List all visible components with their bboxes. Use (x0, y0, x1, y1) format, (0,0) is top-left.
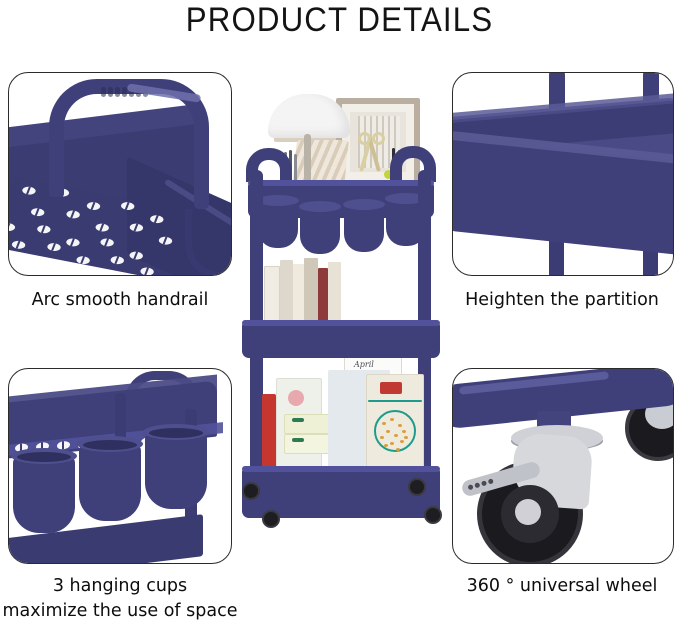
scissors-handle-ring (372, 132, 385, 145)
perforation-hole (128, 251, 144, 261)
feature-panel-hanging-cups (8, 368, 232, 564)
caption-hanging-cups: 3 hanging cups maximize the use of space (0, 574, 240, 624)
snack-chip (390, 418, 394, 421)
perforation-hole (36, 224, 52, 234)
caster-wheel (242, 482, 260, 500)
caption-heighten-partition: Heighten the partition (444, 288, 679, 313)
caster-wheel (408, 478, 426, 496)
snack-chip (404, 436, 408, 439)
perforation-hole (94, 223, 110, 233)
caption-arc-handrail: Arc smooth handrail (0, 288, 240, 313)
perforation-hole (109, 255, 125, 265)
snack-stripe (368, 400, 422, 402)
cups-group (9, 369, 232, 564)
page-title: PRODUCT DETAILS (27, 0, 652, 40)
scissors-handle-ring (358, 132, 371, 145)
hanging-cup (258, 200, 298, 248)
caption-universal-wheel: 360 ° universal wheel (444, 574, 679, 599)
feature-panel-heighten-partition (452, 72, 674, 276)
hanging-cup (300, 206, 340, 254)
caster-wheel-illustration (453, 369, 673, 563)
perforation-hole (128, 223, 144, 233)
snack-chip (386, 430, 390, 433)
snack-label (380, 382, 402, 394)
perforation-hole (46, 242, 62, 252)
snack-bowl-graphic (374, 410, 416, 452)
tier-3-lip (242, 466, 440, 472)
snack-package (262, 394, 276, 468)
lamp-stem (304, 134, 311, 184)
snack-chip (400, 440, 404, 443)
arc-handrail-illustration (9, 73, 231, 275)
perforation-hole (65, 210, 81, 220)
tier-1-lip (248, 180, 434, 186)
rolling-cart-illustration: April (232, 78, 448, 530)
partition-illustration (453, 73, 673, 275)
snack-chip (390, 442, 394, 445)
perforation-hole (149, 214, 165, 224)
hanging-cups-illustration (9, 369, 231, 563)
snack-label (292, 418, 304, 422)
perforation-hole (65, 238, 81, 248)
snack-chip (382, 422, 386, 425)
snack-chip (394, 434, 398, 437)
tier-2-tray (242, 322, 440, 358)
snack-chip (398, 424, 402, 427)
snack-chip (384, 444, 388, 447)
feature-panel-universal-wheel (452, 368, 674, 564)
tier-2-lip (242, 320, 440, 326)
snack-graphic (288, 390, 304, 406)
hanging-cup-edge (185, 209, 232, 276)
perforation-hole (120, 201, 136, 211)
hanging-cup (13, 455, 75, 533)
perforation-hole (30, 207, 46, 217)
perforation-hole (21, 186, 37, 196)
perforation-hole (158, 236, 174, 246)
perforation-hole (86, 201, 102, 211)
snack-chip (396, 448, 400, 451)
hanging-cup (145, 431, 207, 509)
snack-chip (402, 430, 406, 433)
snack-label (292, 438, 304, 442)
perforation-hole (11, 240, 27, 250)
hanging-cup (344, 204, 384, 252)
hero-product-image: April (232, 78, 448, 530)
notepad-title: April (354, 360, 374, 369)
feature-panel-arc-handrail (8, 72, 232, 276)
hanging-cup (79, 443, 141, 521)
caster-wheel (424, 506, 442, 524)
caster-wheel (262, 510, 280, 528)
snack-chip (380, 436, 384, 439)
wheel-hub (515, 499, 541, 525)
product-details-page: PRODUCT DETAILS Arc smooth handrail (0, 0, 679, 628)
perforation-hole (99, 238, 115, 248)
perforation-hole (8, 222, 16, 232)
